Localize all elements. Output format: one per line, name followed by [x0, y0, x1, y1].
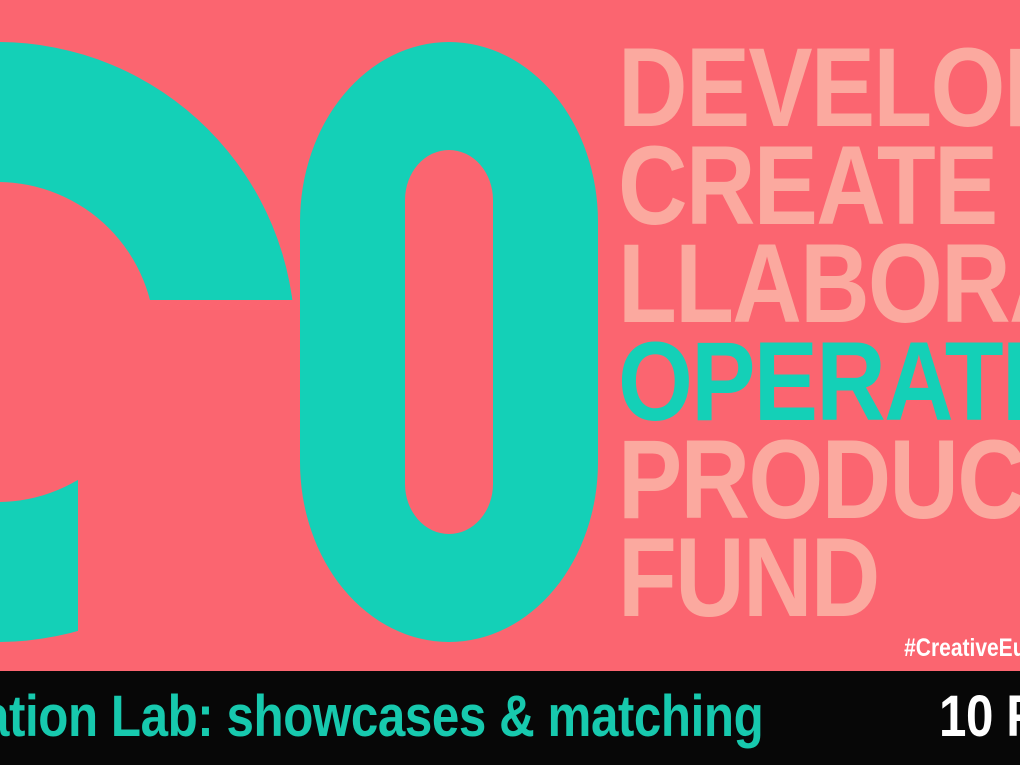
artwork-panel: DEVELOP CREATE LLABORATE OPERATE PRODUCE… — [0, 0, 1020, 671]
event-banner: DEVELOP CREATE LLABORATE OPERATE PRODUCE… — [0, 0, 1020, 765]
letter-c-aperture — [78, 300, 308, 660]
co-lettermark — [0, 0, 620, 671]
word-fund: FUND — [618, 530, 879, 626]
word-produce: PRODUCE — [618, 432, 1020, 528]
word-stack: DEVELOP CREATE LLABORATE OPERATE PRODUCE… — [618, 40, 1020, 640]
word-llaborate: LLABORATE — [618, 236, 1020, 332]
hashtag-label: #CreativeEu — [905, 634, 1020, 663]
letter-o-counter — [405, 150, 493, 534]
word-develop: DEVELOP — [618, 40, 1020, 136]
event-title: ation Lab: showcases & matching — [0, 688, 763, 746]
word-operate: OPERATE — [618, 334, 1020, 430]
event-date: 10 February at 14:00 — [939, 688, 1020, 746]
word-create: CREATE — [618, 138, 997, 234]
caption-row: ation Lab: showcases & matching 10 Febru… — [0, 688, 1020, 746]
caption-bar: ation Lab: showcases & matching 10 Febru… — [0, 671, 1020, 765]
